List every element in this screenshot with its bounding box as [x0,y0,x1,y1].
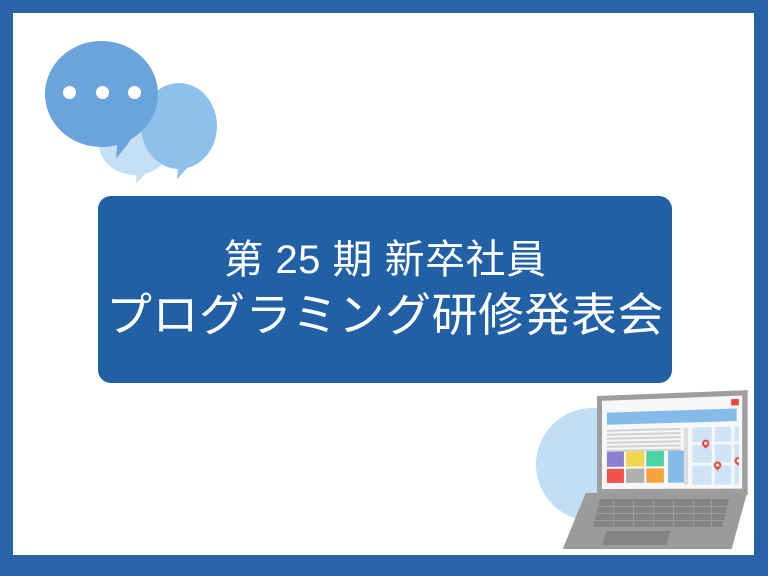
text-placeholder-line [607,428,681,432]
typing-dot-icon [96,86,109,99]
map-road-vertical [731,426,734,484]
laptop-illustration [525,395,754,555]
speech-bubbles-illustration [45,41,235,191]
speech-bubble-main-icon [45,41,158,147]
laptop-lid [597,390,748,495]
map-road-vertical [712,427,715,485]
typing-dots [63,85,141,99]
title-line-secondary: プログラミング研修発表会 [106,286,664,346]
slide-frame: 第 25 期 新卒社員 プログラミング研修発表会 [0,0,768,576]
screen-header-bar [607,408,737,424]
keyboard-col-line [711,499,712,527]
tile-yellow [626,451,644,466]
text-placeholder-line [607,432,681,436]
screen-map [692,426,739,484]
keyboard-col-line [693,499,694,527]
tile-red [607,468,624,483]
speech-bubble-medium-tail-icon [177,156,193,180]
typing-dot-icon [63,86,76,99]
laptop-trackpad [602,531,670,545]
screen-blue-block [668,451,684,483]
close-icon [731,399,739,406]
tile-purple [607,452,624,467]
text-placeholder-line [607,440,681,444]
title-card: 第 25 期 新卒社員 プログラミング研修発表会 [98,196,672,383]
typing-dot-icon [128,86,141,99]
keyboard-col-line [613,499,614,527]
keyboard-col-line [633,499,634,527]
laptop-keyboard [593,499,729,527]
keyboard-col-line [653,499,654,527]
keyboard-col-line [673,499,674,527]
laptop-screen [602,396,742,489]
tile-orange [646,468,664,483]
speech-bubble-light-tail-icon [136,162,153,186]
screen-divider [684,428,688,485]
text-placeholder-line [607,444,681,447]
screen-left-panel [607,428,681,485]
title-line-primary: 第 25 期 新卒社員 [223,234,546,286]
slide-canvas: 第 25 期 新卒社員 プログラミング研修発表会 [13,13,754,555]
screen-tile-grid [607,451,664,483]
tile-gray [626,468,644,483]
map-pin-icon [700,438,711,448]
text-placeholder-line [607,436,681,440]
tile-teal [646,451,664,466]
laptop-base [555,493,747,549]
